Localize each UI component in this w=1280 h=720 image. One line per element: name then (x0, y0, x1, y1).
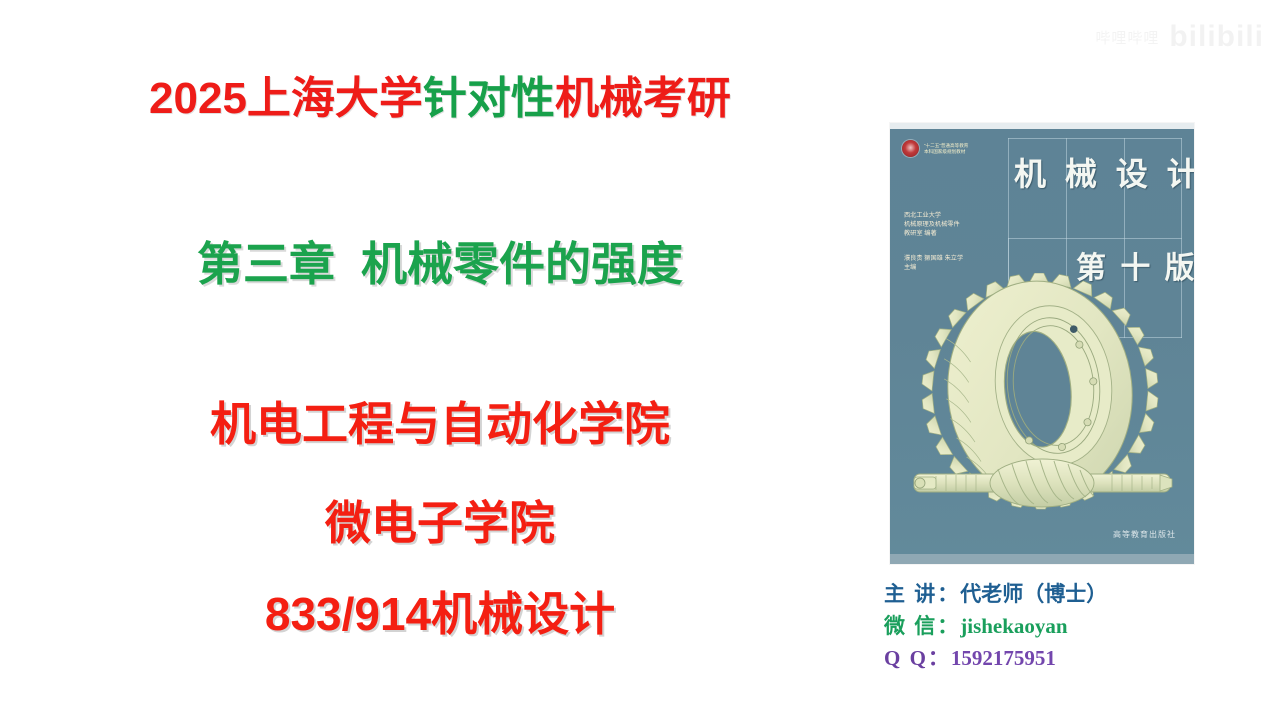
national-textbook-badge: “十二五”普通高等教育 本科国家级规划教材 (902, 140, 968, 157)
page-title: 2025上海大学针对性机械考研 (0, 62, 880, 126)
badge-text: “十二五”普通高等教育 本科国家级规划教材 (924, 143, 968, 155)
teacher-value: 代老师（博士） (960, 582, 1107, 606)
book-author-block-2: 濮良贵 獗国雄 朱立学 主编 (904, 254, 963, 272)
title-segment-exam: 机械考研 (555, 74, 731, 123)
wechat-label: 微 信： (884, 614, 960, 638)
qq-value[interactable]: 1592175951 (951, 646, 1056, 670)
bilibili-watermark: 哔哩哔哩 bilibili (1004, 14, 1264, 60)
worm-gear-illustration (900, 273, 1184, 518)
chapter-number: 第三章 (197, 238, 335, 290)
title-segment-university: 2025上海大学 (149, 74, 423, 123)
slide-text-column: 2025上海大学针对性机械考研 第三章机械零件的强度 机电工程与自动化学院 微电… (0, 0, 880, 720)
chapter-name: 机械零件的强度 (361, 238, 683, 290)
wechat-value[interactable]: jishekaoyan (960, 614, 1067, 638)
book-author-block: 西北工业大学 机械原理及机械零件 教研室 编著 濮良贵 獗国雄 朱立学 主编 (904, 211, 963, 272)
badge-line-1: “十二五”普通高等教育 (924, 143, 968, 149)
book-bottom-band (890, 554, 1194, 564)
presentation-slide: 哔哩哔哩 bilibili 2025上海大学针对性机械考研 第三章机械零件的强度… (0, 0, 1280, 720)
contact-row-teacher: 主 讲：代老师（博士） (884, 578, 1274, 610)
watermark-logo-text: bilibili (1169, 20, 1264, 54)
textbook-cover-image: “十二五”普通高等教育 本科国家级规划教材 西北工业大学 机械原理及机械零件 教… (890, 123, 1194, 564)
department-line-1: 机电工程与自动化学院 (0, 388, 880, 454)
department-line-2: 微电子学院 (0, 487, 880, 553)
badge-line-2: 本科国家级规划教材 (924, 149, 968, 155)
contact-info-block: 主 讲：代老师（博士） 微 信：jishekaoyan Q Q：15921759… (884, 578, 1274, 674)
contact-row-qq: Q Q：1592175951 (884, 642, 1274, 674)
emblem-icon (902, 140, 919, 157)
teacher-label: 主 讲： (884, 582, 960, 606)
contact-row-wechat: 微 信：jishekaoyan (884, 610, 1274, 642)
chapter-heading: 第三章机械零件的强度 (0, 228, 880, 294)
book-title-text: 机 械 设 计 (1014, 149, 1194, 195)
book-top-band (890, 123, 1194, 129)
book-author-block-1: 西北工业大学 机械原理及机械零件 教研室 编著 (904, 211, 963, 238)
qq-label: Q Q： (884, 646, 951, 670)
department-line-3: 833/914机械设计 (0, 578, 880, 644)
book-publisher-text: 高等教育出版社 (1113, 529, 1176, 540)
title-segment-targeted: 针对性 (423, 74, 555, 123)
watermark-subtext: 哔哩哔哩 (1095, 27, 1159, 48)
